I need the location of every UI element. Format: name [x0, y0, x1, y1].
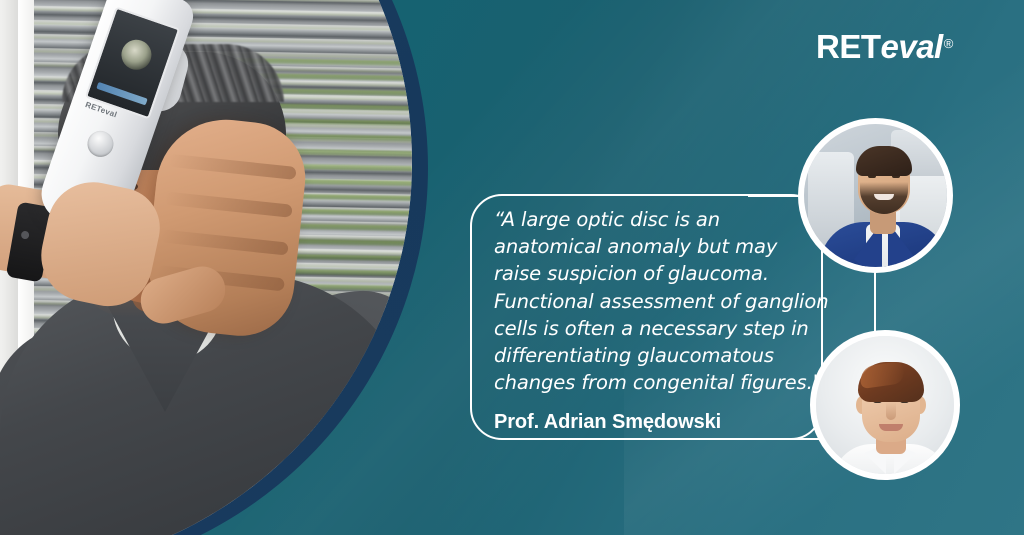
- quote-line: cells is often a necessary step in: [494, 315, 839, 342]
- registered-trademark-icon: ®: [944, 36, 954, 51]
- avatar-top: [798, 118, 953, 273]
- quote-line: Functional assessment of ganglion: [494, 288, 839, 315]
- quote-line: raise suspicion of glaucoma.: [494, 260, 839, 287]
- quote-attribution: Prof. Adrian Smędowski: [494, 407, 839, 437]
- patient-finger: [164, 191, 293, 217]
- wristwatch-dial: [20, 230, 29, 239]
- patient-finger: [160, 229, 289, 255]
- avatar-bottom: [810, 330, 960, 480]
- logo-text-secondary: eval: [881, 28, 943, 65]
- quote-line: “A large optic disc is an: [494, 206, 839, 233]
- avatar-bottom-image: [816, 336, 954, 474]
- hero-photo-image: RETeval: [0, 0, 412, 535]
- quote-line: differentiating glaucomatous: [494, 342, 839, 369]
- promo-card: RETeval “A large optic disc is an anatom…: [0, 0, 1024, 535]
- quote-line: changes from congenital figures.": [494, 369, 839, 396]
- avatar-top-image: [804, 124, 947, 267]
- avatar-top-hair: [856, 146, 912, 176]
- patient-finger: [168, 154, 297, 180]
- avatar-bottom-nose: [886, 402, 896, 420]
- hero-photo: RETeval: [0, 0, 412, 535]
- quote-block: “A large optic disc is an anatomical ano…: [494, 206, 839, 437]
- quote-line: anatomical anomaly but may: [494, 233, 839, 260]
- avatar-bottom-smile: [879, 424, 903, 431]
- avatar-top-smile: [874, 194, 894, 200]
- reteval-logo: RETeval®: [816, 28, 952, 66]
- device-screen-eye-image: [117, 36, 155, 74]
- logo-text-primary: RET: [816, 28, 881, 65]
- device-screen-waveform: [96, 82, 147, 106]
